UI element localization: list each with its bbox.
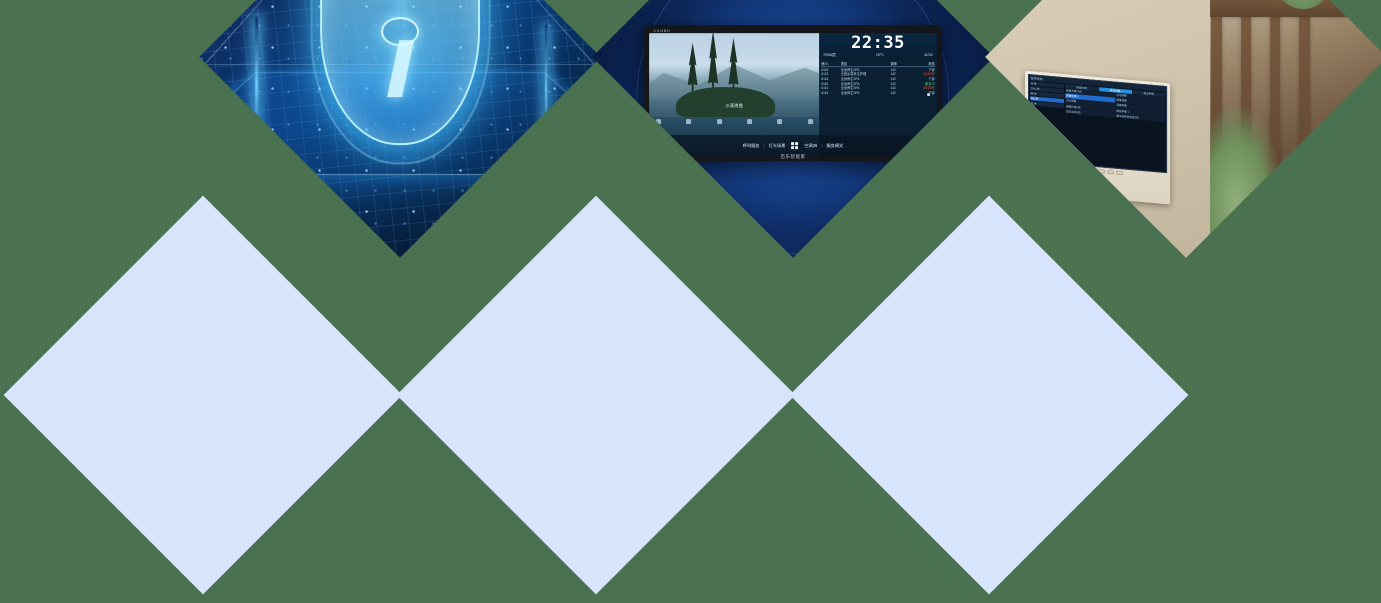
toolbar-aircon[interactable]: 空调26 bbox=[804, 143, 817, 149]
quick-icon[interactable] bbox=[777, 119, 782, 124]
clock-widget: 22:35 SPA6层 15°C 11/24 bbox=[819, 33, 936, 60]
shield-icon bbox=[320, 0, 481, 145]
image-diamond-room: 客房控制 点 钟CALL钟圈 钟转加钟选 钟 保健专案泰式按摩精油护理 保健专案… bbox=[985, 0, 1381, 258]
hard-key[interactable] bbox=[1099, 169, 1106, 174]
wall-panel-right-pane: 保健专案泰式按摩精油护理 保健专案介绍足浴按摩保健经理 2推拿按摩SPA经理经期… bbox=[1065, 83, 1166, 172]
service-table-body: 6115全身养生SPA142下钟6115玉指尖香养生护理14201:15分611… bbox=[821, 68, 934, 96]
quick-icon[interactable] bbox=[717, 119, 722, 124]
tree-icon bbox=[687, 43, 699, 92]
quick-icon[interactable] bbox=[808, 119, 813, 124]
tablet-screen[interactable]: 沙漠晚霞 22:35 bbox=[649, 33, 936, 157]
wall-panel-left-menu[interactable]: 点 钟CALL钟圈 钟转加钟选 钟 bbox=[1029, 80, 1065, 163]
tree-icon bbox=[728, 38, 740, 92]
wall-control-panel[interactable]: 客房控制 点 钟CALL钟圈 钟转加钟选 钟 保健专案泰式按摩精油护理 保健专案… bbox=[1025, 71, 1170, 204]
railing-post-icon bbox=[1270, 1, 1280, 210]
camera-icon bbox=[927, 93, 930, 96]
image-diamond-shield bbox=[199, 0, 601, 258]
toolbar-call-service[interactable]: 呼叫服务 bbox=[743, 143, 760, 149]
hard-key[interactable] bbox=[1072, 167, 1079, 172]
hard-key[interactable] bbox=[1090, 168, 1097, 173]
clock-time: 22:35 bbox=[822, 35, 933, 52]
railing-post-icon bbox=[1299, 0, 1309, 218]
smart-room-tablet[interactable]: CSIJBO 沙漠晚霞 bbox=[644, 25, 941, 162]
scene-tag-label: 沙漠晚霞 bbox=[726, 103, 744, 109]
hard-key[interactable] bbox=[1117, 171, 1124, 176]
clock-meta: SPA6层 15°C 11/24 bbox=[822, 53, 933, 58]
table-cell: 6115 bbox=[821, 91, 840, 96]
clock-location: SPA6层 bbox=[823, 53, 836, 58]
tablet-footer-note: Hey Smart Home Kit Yi Jia Zhi Neng bbox=[908, 154, 935, 161]
tablet-artwork: CSIJBO 沙漠晚霞 bbox=[592, 0, 994, 258]
infographic-canvas: CSIJBO 沙漠晚霞 bbox=[0, 0, 1381, 603]
table-cell: 全身养生SPA bbox=[841, 91, 891, 96]
col-header: 钟师 bbox=[890, 61, 909, 66]
tablet-right-bezel bbox=[921, 45, 935, 144]
toolbar-service-mode[interactable]: 服务模式 bbox=[826, 143, 843, 149]
toolbar-light-scene[interactable]: 灯光场景 bbox=[769, 143, 786, 149]
quick-icon[interactable] bbox=[747, 119, 752, 124]
footer-note-line-1: Hey Smart Home Kit bbox=[908, 154, 935, 157]
tablet-footer-brand: 百乐智能家 bbox=[644, 154, 941, 160]
hard-key[interactable] bbox=[1108, 170, 1115, 175]
heartbeat-pulse-icon bbox=[701, 0, 886, 1]
scene-quick-icons[interactable] bbox=[656, 119, 812, 124]
quick-icon[interactable] bbox=[656, 119, 661, 124]
toolbar-divider: | bbox=[821, 143, 822, 148]
room-artwork: 客房控制 点 钟CALL钟圈 钟转加钟选 钟 保健专案泰式按摩精油护理 保健专案… bbox=[985, 0, 1381, 258]
light-beam-icon bbox=[255, 17, 258, 154]
table-cell: 142 bbox=[890, 91, 909, 96]
clock-temperature: 15°C bbox=[876, 53, 884, 57]
col-header: 项目 bbox=[841, 61, 891, 66]
footer-note-line-2: Yi Jia Zhi Neng bbox=[908, 157, 935, 160]
quick-icon[interactable] bbox=[686, 119, 691, 124]
shield-artwork bbox=[199, 0, 601, 258]
light-beam-icon bbox=[545, 25, 548, 154]
wall-panel-screen[interactable]: 客房控制 点 钟CALL钟圈 钟转加钟选 钟 保健专案泰式按摩精油护理 保健专案… bbox=[1028, 74, 1167, 173]
table-row[interactable]: 6115全身养生SPA142下钟 bbox=[821, 91, 934, 96]
image-diamond-tablet: CSIJBO 沙漠晚霞 bbox=[592, 0, 994, 258]
apps-grid-icon[interactable] bbox=[791, 142, 798, 149]
hard-key[interactable] bbox=[1081, 168, 1088, 173]
keyhole-icon bbox=[381, 17, 419, 46]
service-table-header: 房/人 项目 钟师 状态 bbox=[821, 61, 934, 68]
col-header: 房/人 bbox=[821, 61, 840, 66]
wall-panel-body: 点 钟CALL钟圈 钟转加钟选 钟 保健专案泰式按摩精油护理 保健专案介绍足浴按… bbox=[1029, 80, 1166, 172]
toolbar-divider: | bbox=[763, 143, 764, 148]
